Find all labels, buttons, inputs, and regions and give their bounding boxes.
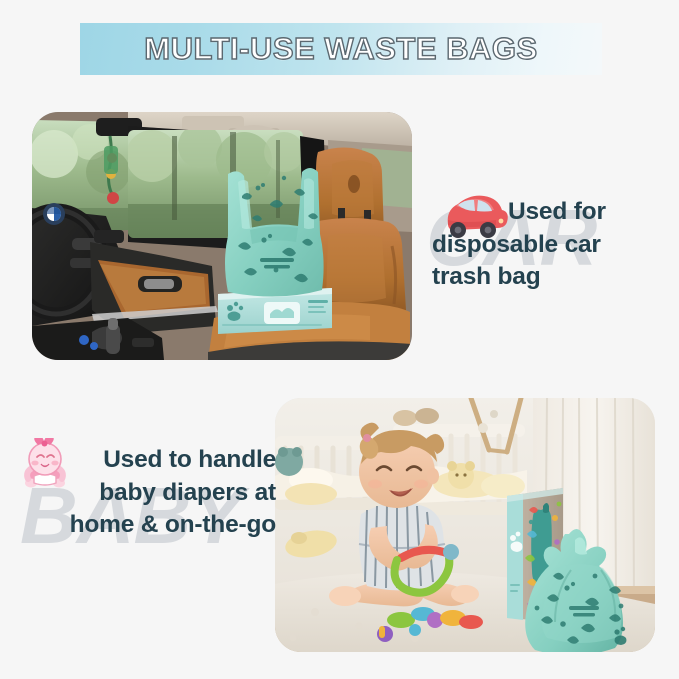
callout-baby-line-3: home & on-the-go: [14, 509, 276, 542]
callout-car-line-3: trash bag: [432, 261, 668, 294]
photo-car-interior: [32, 112, 412, 360]
callout-baby: BABY Used to handle: [14, 444, 276, 542]
callout-car: CAR Used for disposable car trash bag: [432, 196, 668, 294]
pink-baby-icon: [20, 438, 70, 497]
baby-nursery-illustration: [275, 398, 655, 652]
red-car-icon: [436, 190, 508, 245]
page-title: MULTI-USE WASTE BAGS: [80, 23, 602, 75]
photo-baby-nursery: [275, 398, 655, 652]
car-interior-illustration: [32, 112, 412, 360]
